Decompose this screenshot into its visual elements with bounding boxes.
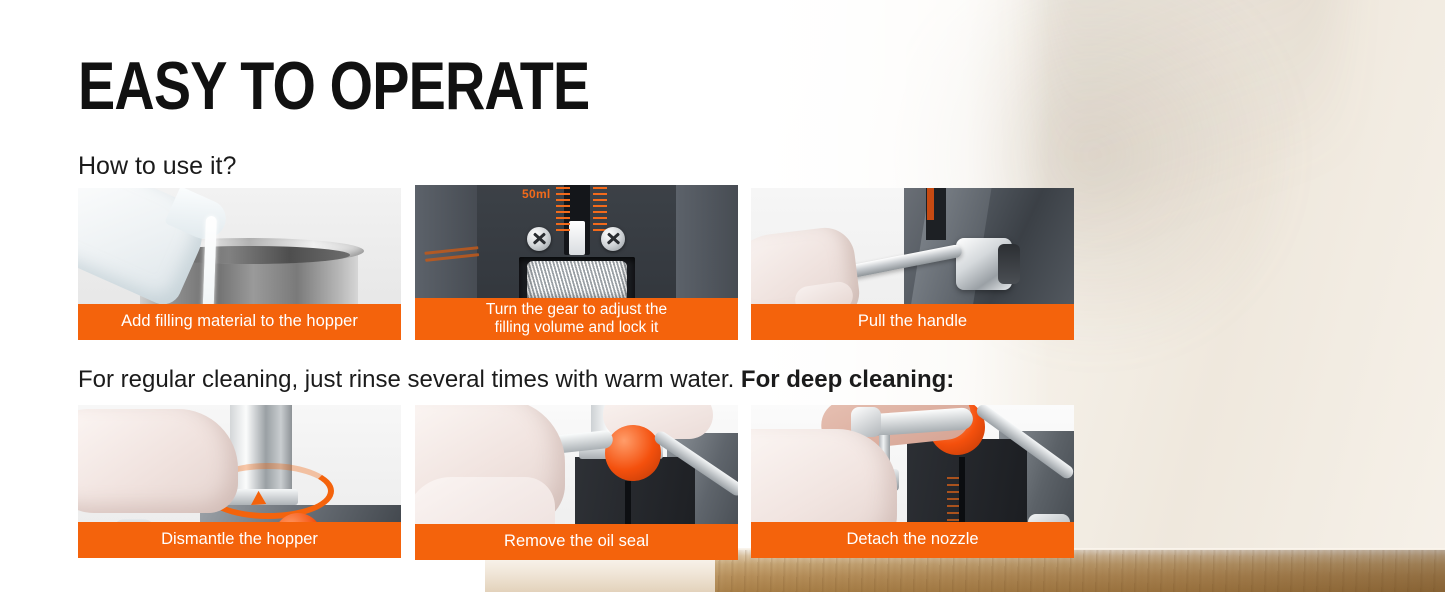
step-card-pull-handle: Pull the handle <box>751 188 1074 340</box>
step-card-add-filling-material: Add filling material to the hopper <box>78 188 401 340</box>
step-caption-line2: filling volume and lock it <box>495 319 659 336</box>
page-subtitle: How to use it? <box>78 152 236 181</box>
page-title: EASY TO OPERATE <box>78 52 589 120</box>
step-card-dismantle-hopper: Dismantle the hopper <box>78 405 401 558</box>
scale-ticks-right <box>593 187 607 233</box>
step-caption: Add filling material to the hopper <box>78 304 401 340</box>
cleaning-note: For regular cleaning, just rinse several… <box>78 366 954 394</box>
hero-product-photo: 100ml <box>1080 0 1445 592</box>
step-caption: Pull the handle <box>751 304 1074 340</box>
machine-slot-shape <box>959 457 965 527</box>
handle-hub-cap <box>998 244 1020 284</box>
step-card-turn-gear: 50ml Turn the gear to adjust the filling… <box>415 185 738 340</box>
scale-label-50ml: 50ml <box>522 187 551 201</box>
phillips-screw-right <box>601 227 625 251</box>
volume-slider-indicator <box>569 221 585 255</box>
step-caption: Detach the nozzle <box>751 522 1074 558</box>
machine-orange-strip <box>927 188 934 220</box>
cleaning-note-bold: For deep cleaning: <box>741 366 954 393</box>
scale-ticks-left <box>556 187 570 233</box>
step-caption: Dismantle the hopper <box>78 522 401 558</box>
knurled-adjust-wheel <box>527 261 627 303</box>
infographic-canvas: EASY TO OPERATE How to use it? Add filli… <box>0 0 1445 592</box>
machine-scale-ticks <box>947 477 959 521</box>
step-caption: Turn the gear to adjust the filling volu… <box>415 298 738 340</box>
step-caption-line1: Turn the gear to adjust the <box>486 301 667 318</box>
step-card-remove-oil-seal: Remove the oil seal <box>415 405 738 560</box>
cleaning-note-regular: For regular cleaning, just rinse several… <box>78 366 734 393</box>
phillips-screw-left <box>527 227 551 251</box>
step-card-detach-nozzle: Detach the nozzle <box>751 405 1074 558</box>
orange-ball-knob <box>605 425 661 481</box>
step-caption: Remove the oil seal <box>415 524 738 560</box>
gloved-hand-shape <box>78 409 238 513</box>
